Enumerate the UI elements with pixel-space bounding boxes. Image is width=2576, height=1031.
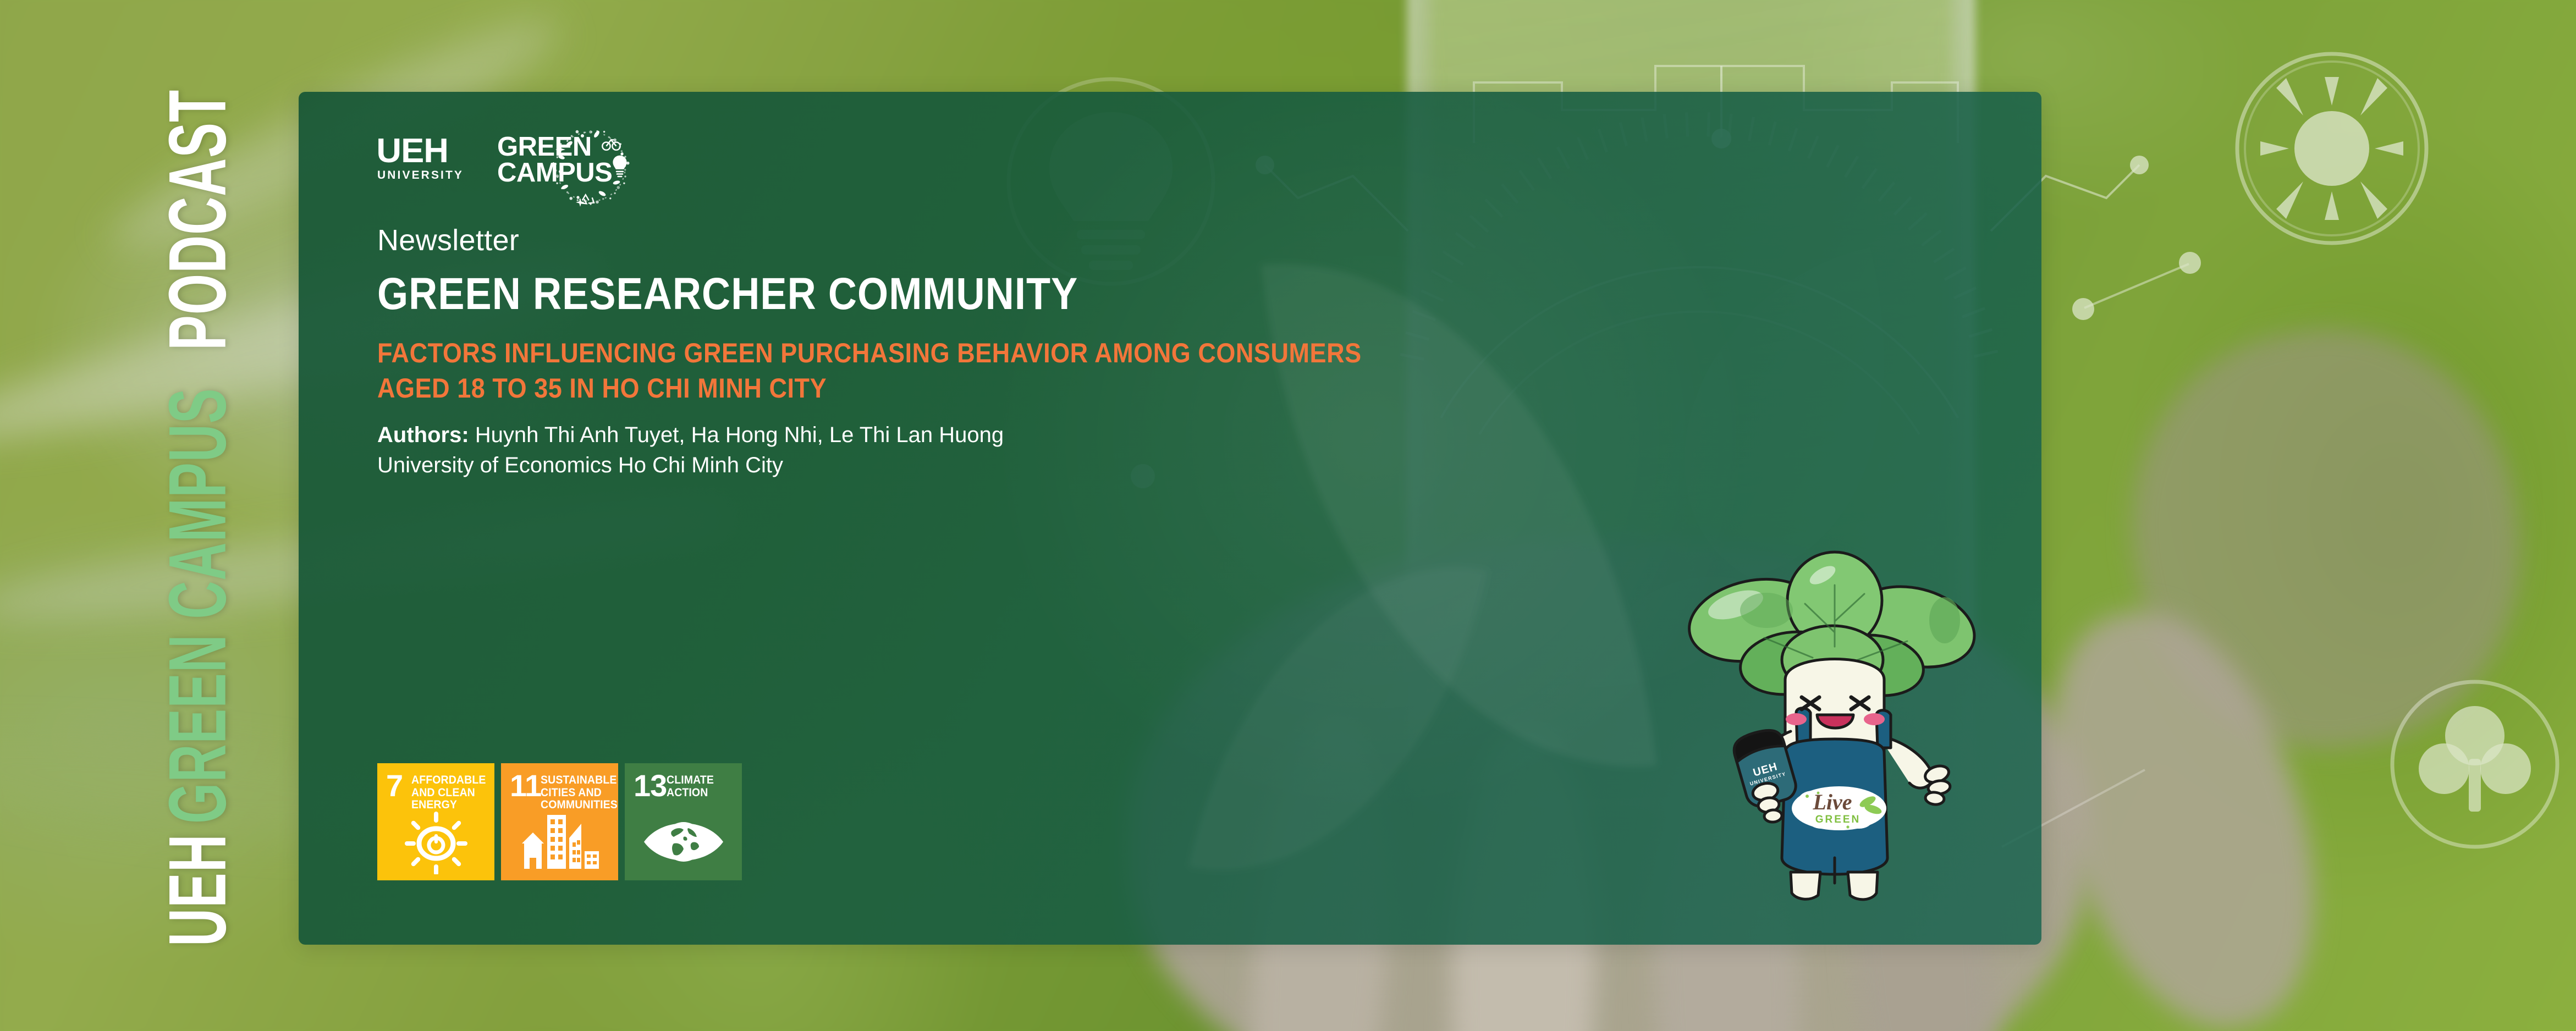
sdg-badge-number: 13 bbox=[634, 772, 667, 799]
green-sprout-mascot: UEH UNIVERSITY Live GREEN bbox=[1683, 550, 1980, 935]
logo-university-text: UNIVERSITY bbox=[377, 169, 464, 182]
sdg-badge-7[interactable]: 7 AFFORDABLE AND CLEAN ENERGY bbox=[377, 763, 494, 880]
article-subtitle-line1: FACTORS INFLUENCING GREEN PURCHASING BEH… bbox=[377, 335, 1516, 371]
eye-globe-icon bbox=[625, 809, 742, 875]
kicker-label: Newsletter bbox=[377, 223, 1642, 257]
sun-power-icon bbox=[377, 809, 494, 875]
sdg-badge-13[interactable]: 13 CLIMATE ACTION bbox=[625, 763, 742, 880]
authors-block: Authors: Huynh Thi Anh Tuyet, Ha Hong Nh… bbox=[377, 420, 1642, 481]
live-green-word-text: GREEN bbox=[1815, 814, 1861, 825]
sdg-badge-row: 7 AFFORDABLE AND CLEAN ENERGY bbox=[377, 763, 742, 880]
page-title: GREEN RESEARCHER COMMUNITY bbox=[377, 268, 1490, 320]
authors-label: Authors: bbox=[377, 423, 469, 447]
sdg-badge-label: CLIMATE ACTION bbox=[667, 774, 733, 799]
sdg-badge-number: 7 bbox=[386, 772, 403, 799]
sdg-badge-11[interactable]: 11 SUSTAINABLE CITIES AND COMMUNITIES bbox=[501, 763, 618, 880]
eco-circle-icon bbox=[549, 125, 632, 208]
article-subtitle-line2: AGED 18 TO 35 IN HO CHI MINH CITY bbox=[377, 371, 1516, 406]
ueh-green-campus-logo[interactable]: UEH UNIVERSITY GREEN CAMPUS bbox=[377, 126, 630, 209]
sdg-badge-label: AFFORDABLE AND CLEAN ENERGY bbox=[411, 774, 488, 812]
buildings-icon bbox=[501, 809, 618, 875]
live-green-logo: Live GREEN bbox=[1792, 786, 1886, 830]
logo-ueh-text: UEH bbox=[376, 135, 464, 167]
logo-ueh-block: UEH UNIVERSITY bbox=[377, 135, 464, 182]
sdg-badge-label: SUSTAINABLE CITIES AND COMMUNITIES bbox=[541, 774, 612, 812]
affiliation-line: University of Economics Ho Chi Minh City bbox=[377, 450, 1642, 481]
panel-content: UEH UNIVERSITY GREEN CAMPUS bbox=[377, 126, 1642, 481]
authors-line: Authors: Huynh Thi Anh Tuyet, Ha Hong Nh… bbox=[377, 420, 1642, 450]
tree-icon bbox=[2392, 682, 2557, 847]
authors-names: Huynh Thi Anh Tuyet, Ha Hong Nhi, Le Thi… bbox=[469, 423, 1004, 447]
sun-icon bbox=[2237, 54, 2426, 243]
sdg-badge-number: 11 bbox=[510, 772, 541, 799]
article-subtitle: FACTORS INFLUENCING GREEN PURCHASING BEH… bbox=[377, 335, 1516, 406]
